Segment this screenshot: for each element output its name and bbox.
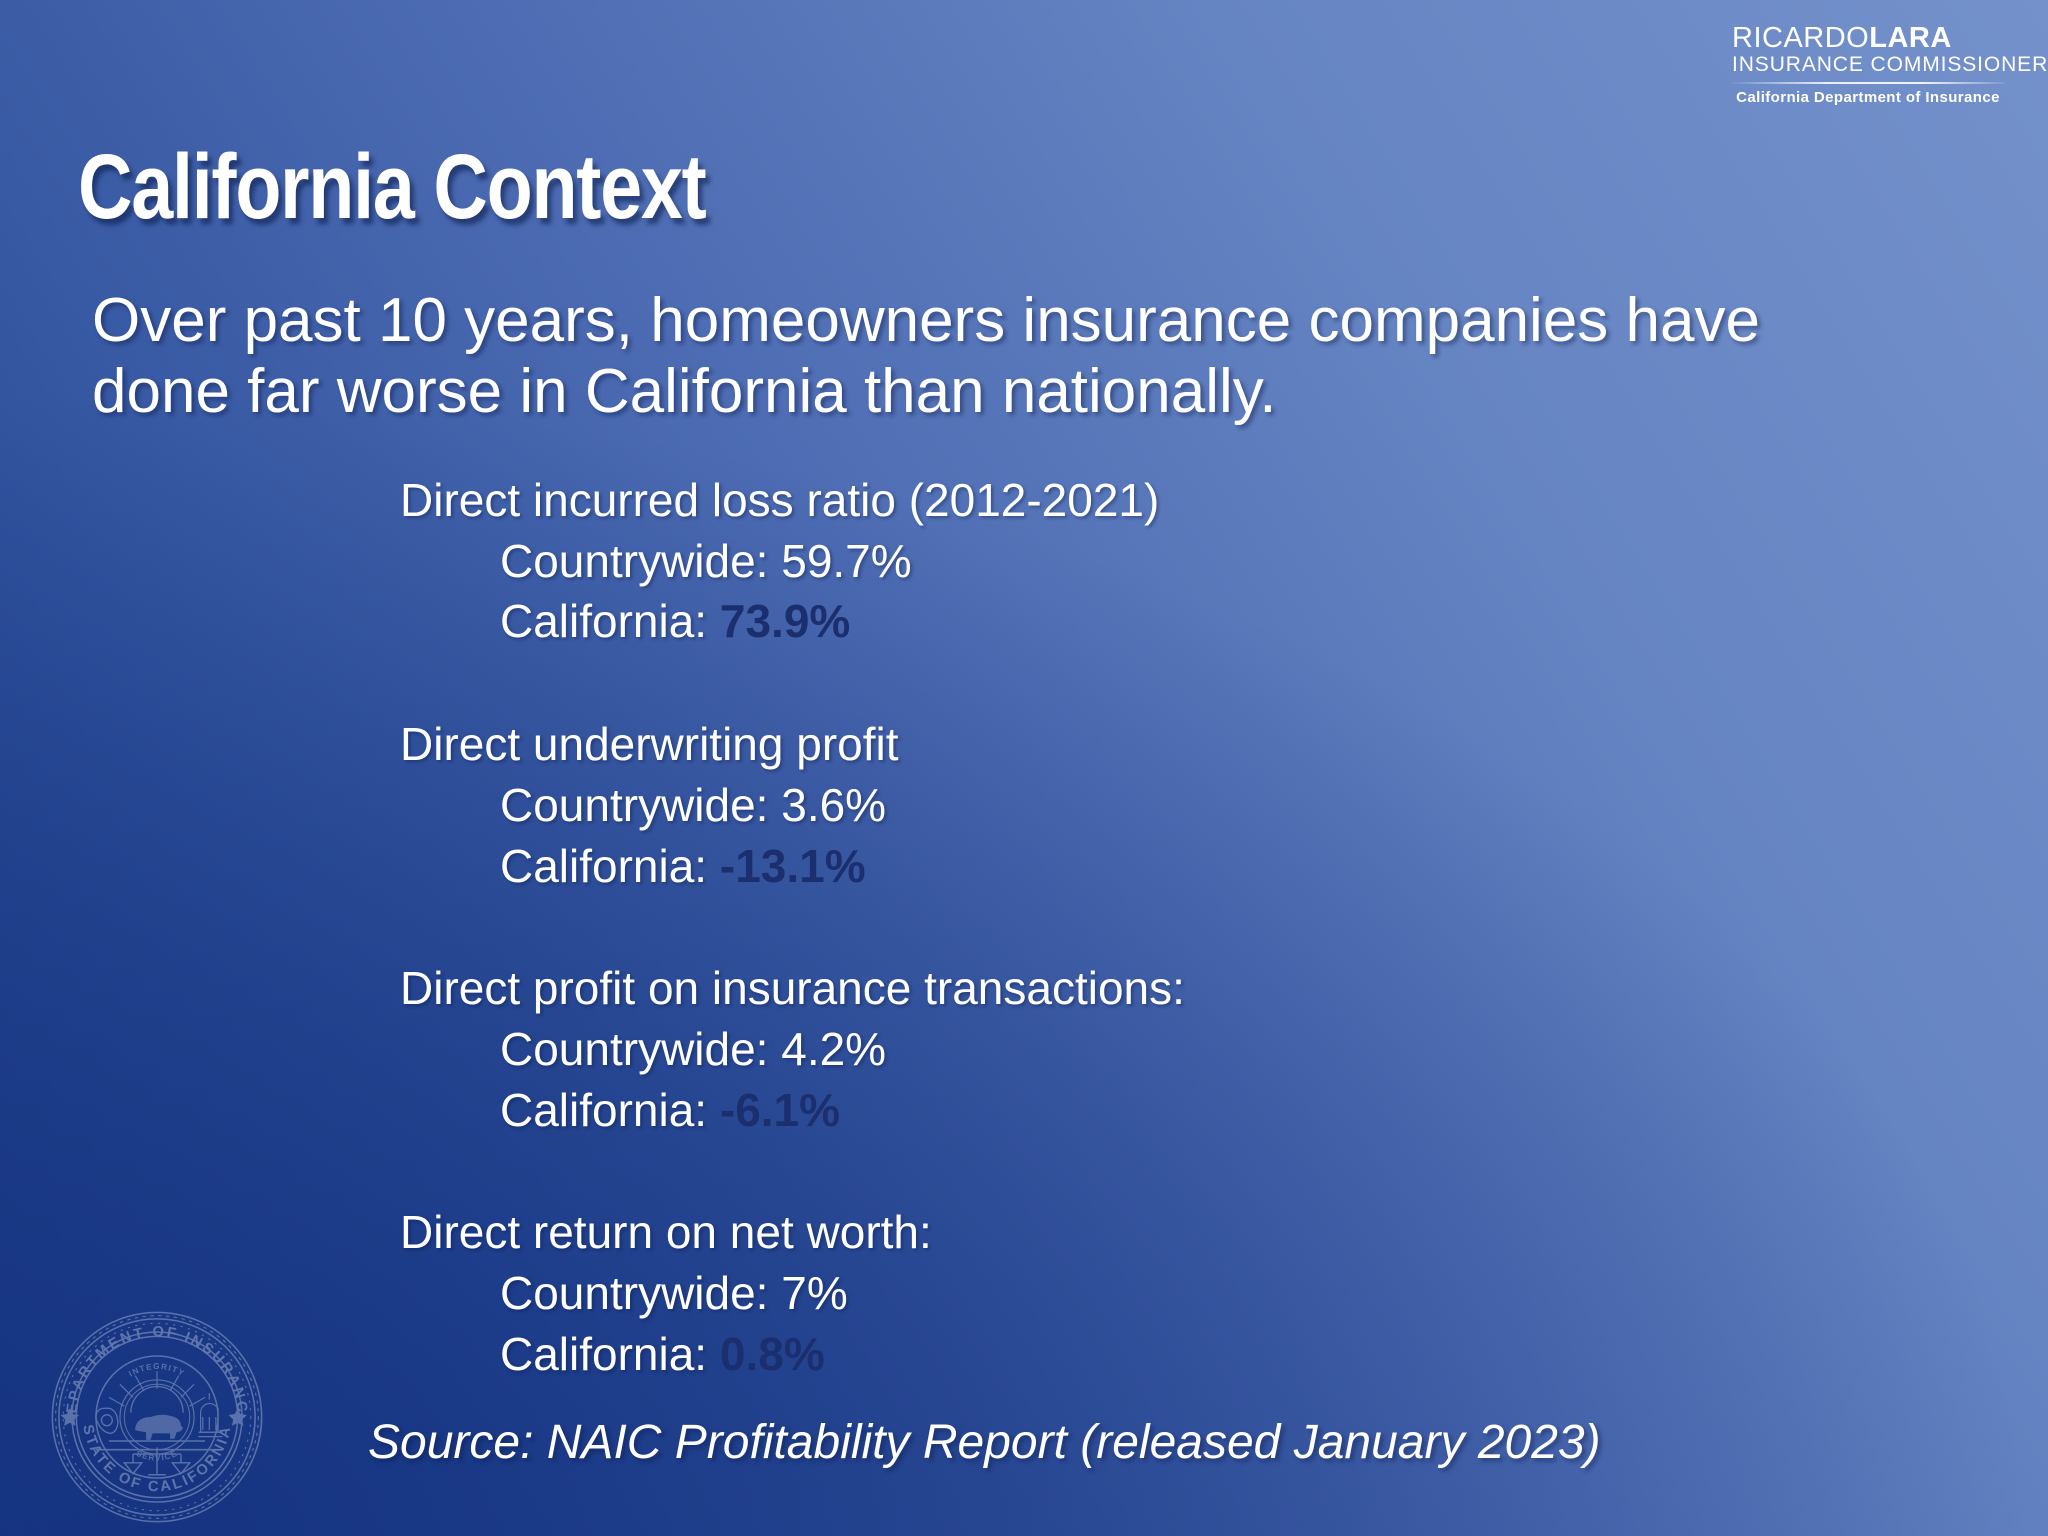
commissioner-brand-lockup: RICARDOLARA INSURANCE COMMISSIONER Calif… [1732,24,2004,106]
countrywide-label: Countrywide: [500,1023,768,1075]
countrywide-value: 59.7% [781,535,911,587]
countrywide-label: Countrywide: [500,535,768,587]
stat-block: Direct profit on insurance transactions:… [400,958,1700,1140]
countrywide-value: 4.2% [781,1023,886,1075]
stat-row-california: California: 0.8% [500,1324,1700,1385]
presentation-slide: RICARDOLARA INSURANCE COMMISSIONER Calif… [0,0,2048,1536]
california-label: California: [500,1328,707,1380]
commissioner-last-name: LARA [1869,22,1952,54]
stat-row-california: California: -6.1% [500,1080,1700,1141]
stat-heading: Direct incurred loss ratio (2012-2021) [400,470,1700,531]
statistics-list: Direct incurred loss ratio (2012-2021) C… [400,470,1700,1385]
slide-subtitle: Over past 10 years, homeowners insurance… [92,286,1852,427]
california-value: -6.1% [720,1084,840,1136]
california-label: California: [500,840,707,892]
california-label: California: [500,1084,707,1136]
stat-row-countrywide: Countrywide: 7% [500,1263,1700,1324]
california-value: 73.9% [720,595,850,647]
seal-top-text: DEPARTMENT OF INSURANCE [48,1308,250,1415]
page-title: California Context [78,135,706,240]
stat-row-california: California: 73.9% [500,591,1700,652]
stat-block: Direct return on net worth: Countrywide:… [400,1202,1700,1384]
countrywide-value: 3.6% [781,779,886,831]
stat-row-countrywide: Countrywide: 4.2% [500,1019,1700,1080]
brand-divider [1732,82,2004,84]
commissioner-role: INSURANCE COMMISSIONER [1732,53,2004,77]
california-value: -13.1% [720,840,866,892]
california-label: California: [500,595,707,647]
commissioner-first-name: RICARDO [1732,22,1869,54]
stat-row-countrywide: Countrywide: 3.6% [500,775,1700,836]
california-value: 0.8% [720,1328,825,1380]
stat-block: Direct incurred loss ratio (2012-2021) C… [400,470,1700,652]
stat-row-countrywide: Countrywide: 59.7% [500,531,1700,592]
stat-heading: Direct underwriting profit [400,714,1700,775]
stat-heading: Direct profit on insurance transactions: [400,958,1700,1019]
countrywide-value: 7% [781,1267,847,1319]
department-name: California Department of Insurance [1732,89,2004,106]
stat-block: Direct underwriting profit Countrywide: … [400,714,1700,896]
commissioner-name: RICARDOLARA [1732,24,2004,53]
countrywide-label: Countrywide: [500,1267,768,1319]
california-department-of-insurance-seal-icon: DEPARTMENT OF INSURANCE STATE OF CALIFOR… [48,1308,266,1526]
stat-heading: Direct return on net worth: [400,1202,1700,1263]
stat-row-california: California: -13.1% [500,836,1700,897]
source-citation: Source: NAIC Profitability Report (relea… [368,1415,1601,1470]
countrywide-label: Countrywide: [500,779,768,831]
